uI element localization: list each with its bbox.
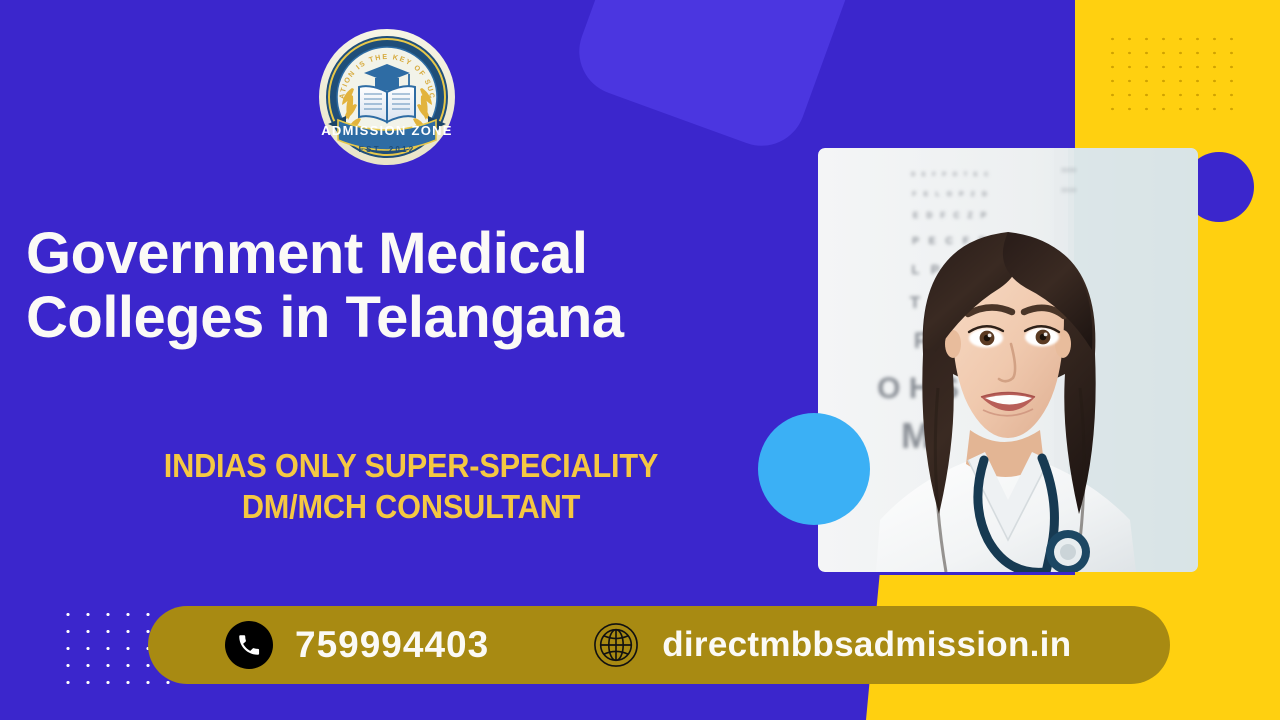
website-url: directmbbsadmission.in (662, 625, 1071, 665)
svg-text:20/200: 20/200 (1061, 168, 1077, 174)
subtitle: INDIAS ONLY SUPER-SPECIALITY DM/MCH CONS… (53, 445, 769, 528)
logo-banner-text: ADMISSION ZONE (321, 123, 453, 138)
cyan-circle-decor (758, 413, 870, 525)
phone-contact[interactable]: 759994403 (225, 621, 489, 669)
open-book-icon (359, 86, 415, 122)
subtitle-line-2: DM/MCH CONSULTANT (53, 486, 769, 527)
svg-text:D E F P O T E C: D E F P O T E C (911, 172, 991, 178)
banner-canvas: D E F P O T E C F E L O P Z D E D F C Z … (0, 0, 1280, 720)
contact-bar: 759994403 directmbbsadmission.in (148, 606, 1170, 684)
subtitle-line-1: INDIAS ONLY SUPER-SPECIALITY (164, 447, 658, 484)
dot-grid-top-right (1104, 32, 1244, 112)
svg-text:E D F C Z P: E D F C Z P (913, 211, 989, 220)
globe-icon (592, 621, 640, 669)
svg-text:F E L O P Z D: F E L O P Z D (912, 191, 989, 198)
headline-line-1: Government Medical (26, 221, 587, 286)
phone-icon (225, 621, 273, 669)
website-contact[interactable]: directmbbsadmission.in (592, 621, 1071, 669)
phone-number: 759994403 (295, 624, 489, 666)
headline-line-2: Colleges in Telangana (26, 286, 816, 350)
admission-zone-logo: EDUCATION IS THE KEY OF SUCCESS (318, 28, 456, 166)
logo-established-text: EST. 2012 (359, 145, 416, 154)
page-title: Government Medical Colleges in Telangana (26, 222, 816, 350)
svg-text:20/100: 20/100 (1061, 188, 1077, 194)
rotated-square-decor (567, 0, 868, 158)
doctor-photo: D E F P O T E C F E L O P Z D E D F C Z … (818, 148, 1198, 572)
